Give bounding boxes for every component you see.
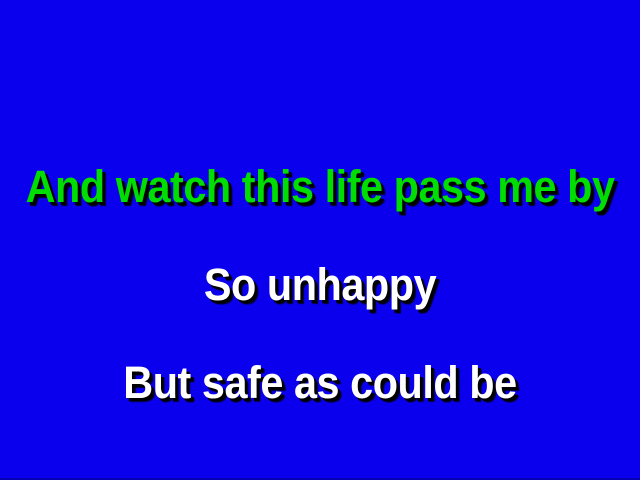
lyric-block: And watch this life pass me by So unhapp… [0,0,640,480]
karaoke-screen: And watch this life pass me by So unhapp… [0,0,640,480]
lyric-line-3: But safe as could be [26,360,615,405]
lyric-line-2: So unhappy [26,262,615,307]
lyric-line-1: And watch this life pass me by [26,164,615,209]
